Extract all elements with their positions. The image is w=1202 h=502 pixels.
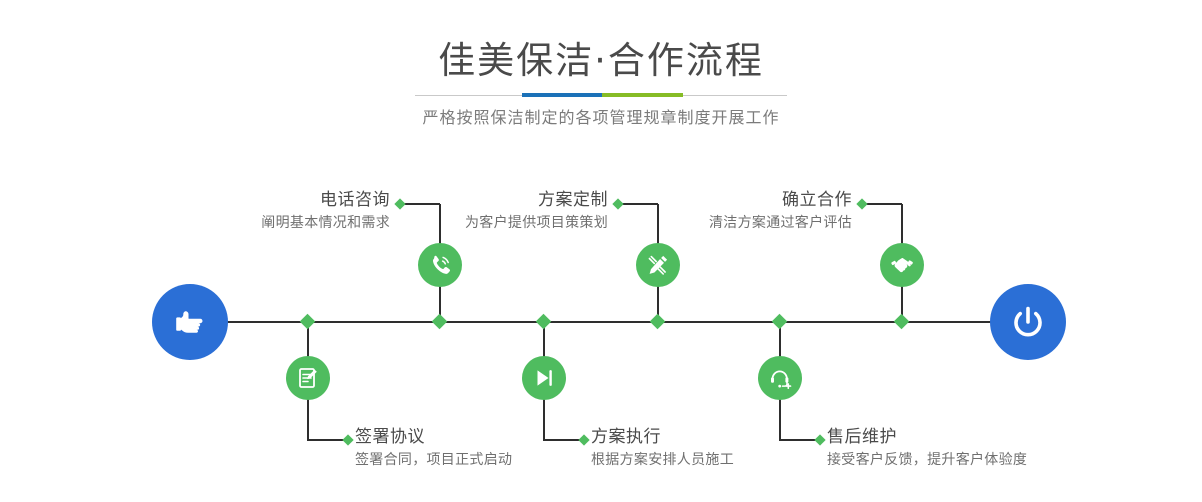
step-4-label-marker bbox=[578, 434, 589, 445]
step-6-label: 确立合作 清洁方案通过客户评估 bbox=[617, 189, 852, 234]
step-2-label: 签署协议 签署合同，项目正式启动 bbox=[355, 426, 512, 471]
play-skip-icon bbox=[531, 365, 557, 391]
step-4-desc: 根据方案安排人员施工 bbox=[591, 449, 734, 471]
step-2-arm-horizontal bbox=[307, 439, 347, 441]
step-2-title: 签署协议 bbox=[355, 426, 512, 448]
customer-service-add-icon bbox=[767, 365, 793, 391]
step-1-circle[interactable] bbox=[418, 243, 462, 287]
handshake-icon bbox=[889, 252, 915, 278]
step-1-desc: 阐明基本情况和需求 bbox=[155, 212, 390, 234]
timeline-start-node bbox=[152, 284, 228, 360]
step-6-title: 确立合作 bbox=[617, 189, 852, 211]
step-5-label: 售后维护 接受客户反馈，提升客户体验度 bbox=[827, 426, 1027, 471]
step-5-arm-horizontal bbox=[779, 439, 819, 441]
step-4-title: 方案执行 bbox=[591, 426, 734, 448]
step-2-axis-diamond bbox=[300, 314, 316, 330]
step-5-title: 售后维护 bbox=[827, 426, 1027, 448]
divider-blue-segment bbox=[522, 93, 602, 97]
step-6-axis-diamond bbox=[894, 314, 910, 330]
step-5-label-marker bbox=[814, 434, 825, 445]
step-2-label-marker bbox=[342, 434, 353, 445]
pencil-ruler-icon bbox=[645, 252, 671, 278]
page-subtitle: 严格按照保洁制定的各项管理规章制度开展工作 bbox=[0, 106, 1202, 130]
step-6-circle[interactable] bbox=[880, 243, 924, 287]
power-icon bbox=[1007, 301, 1049, 343]
step-6-desc: 清洁方案通过客户评估 bbox=[617, 212, 852, 234]
step-1-title: 电话咨询 bbox=[155, 189, 390, 211]
step-6-label-marker bbox=[856, 198, 867, 209]
step-6-arm-horizontal bbox=[862, 203, 902, 205]
step-3-label: 方案定制 为客户提供项目策策划 bbox=[373, 189, 608, 234]
step-3-title: 方案定制 bbox=[373, 189, 608, 211]
document-edit-icon bbox=[295, 365, 321, 391]
page-title: 佳美保洁·合作流程 bbox=[0, 38, 1202, 84]
step-2-desc: 签署合同，项目正式启动 bbox=[355, 449, 512, 471]
step-3-circle[interactable] bbox=[636, 243, 680, 287]
step-5-circle[interactable] bbox=[758, 356, 802, 400]
title-divider bbox=[415, 93, 787, 97]
cooperation-process-infographic: 佳美保洁·合作流程 严格按照保洁制定的各项管理规章制度开展工作 bbox=[0, 0, 1202, 502]
pointing-hand-icon bbox=[170, 302, 210, 342]
step-5-axis-diamond bbox=[772, 314, 788, 330]
step-1-axis-diamond bbox=[432, 314, 448, 330]
step-5-desc: 接受客户反馈，提升客户体验度 bbox=[827, 449, 1027, 471]
step-1-label: 电话咨询 阐明基本情况和需求 bbox=[155, 189, 390, 234]
step-4-arm-horizontal bbox=[543, 439, 583, 441]
step-3-axis-diamond bbox=[650, 314, 666, 330]
step-4-circle[interactable] bbox=[522, 356, 566, 400]
phone-call-icon bbox=[427, 252, 453, 278]
divider-green-segment bbox=[602, 93, 683, 97]
step-2-circle[interactable] bbox=[286, 356, 330, 400]
step-3-desc: 为客户提供项目策策划 bbox=[373, 212, 608, 234]
step-4-axis-diamond bbox=[536, 314, 552, 330]
step-4-label: 方案执行 根据方案安排人员施工 bbox=[591, 426, 734, 471]
timeline-finish-node bbox=[990, 284, 1066, 360]
